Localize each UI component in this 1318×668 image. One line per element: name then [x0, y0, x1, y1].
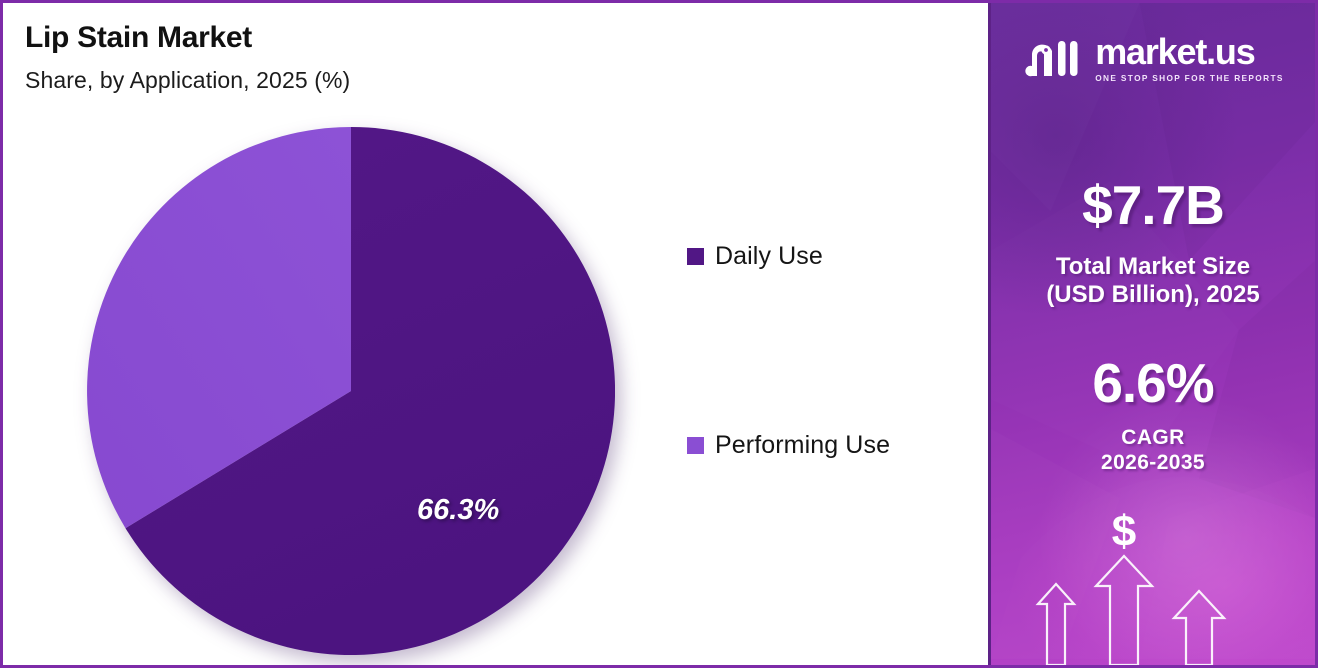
- infographic-root: Lip Stain Market Share, by Application, …: [0, 0, 1318, 668]
- market-size-caption: Total Market Size (USD Billion), 2025: [991, 253, 1315, 310]
- page-subtitle: Share, by Application, 2025 (%): [25, 67, 350, 94]
- legend-swatch-performing-use: [687, 437, 704, 454]
- legend-label-daily-use: Daily Use: [715, 242, 823, 271]
- pie-chart: 66.3%: [87, 127, 615, 655]
- market-us-logo-icon: [1022, 33, 1084, 83]
- legend-label-performing-use: Performing Use: [715, 431, 890, 460]
- cagr-period: 2026-2035: [991, 450, 1315, 475]
- dollar-growth-arrows-icon: $: [991, 490, 1315, 665]
- brand-logo[interactable]: market.us ONE STOP SHOP FOR THE REPORTS: [991, 33, 1315, 83]
- cagr-value: 6.6%: [991, 351, 1315, 415]
- market-size-caption-line1: Total Market Size: [991, 253, 1315, 281]
- stat-panel: market.us ONE STOP SHOP FOR THE REPORTS …: [988, 3, 1315, 665]
- legend-item-daily-use[interactable]: Daily Use: [687, 242, 823, 271]
- pie-data-label: 66.3%: [417, 494, 499, 527]
- market-size-value: $7.7B: [991, 173, 1315, 237]
- brand-tagline: ONE STOP SHOP FOR THE REPORTS: [1095, 73, 1284, 83]
- chart-panel: Lip Stain Market Share, by Application, …: [3, 3, 988, 665]
- market-size-caption-line2: (USD Billion), 2025: [991, 281, 1315, 309]
- pie-chart-svg: [87, 127, 615, 655]
- dollar-symbol: $: [1112, 507, 1136, 556]
- legend-swatch-daily-use: [687, 248, 704, 265]
- brand-text-block: market.us ONE STOP SHOP FOR THE REPORTS: [1095, 34, 1284, 83]
- legend-item-performing-use[interactable]: Performing Use: [687, 431, 890, 460]
- cagr-label: CAGR: [991, 425, 1315, 450]
- cagr-caption: CAGR 2026-2035: [991, 425, 1315, 475]
- brand-name: market.us: [1095, 34, 1284, 70]
- page-title: Lip Stain Market: [25, 21, 252, 55]
